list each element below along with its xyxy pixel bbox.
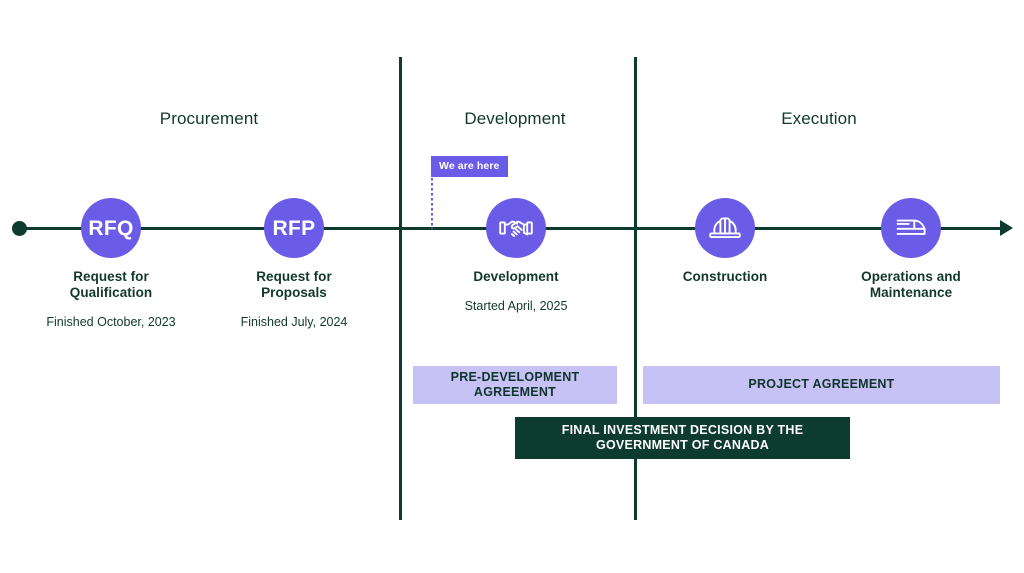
milestone-rfq-status: Finished October, 2023 xyxy=(21,315,201,330)
hard-hat-icon xyxy=(707,210,743,246)
timeline-arrow-icon xyxy=(1000,220,1013,236)
phase-header-development: Development xyxy=(425,109,605,129)
timeline-infographic: Procurement Development Execution We are… xyxy=(0,0,1024,573)
milestone-construction[interactable]: Construction xyxy=(635,198,815,285)
milestone-rfq[interactable]: RFQ Request for Qualification Finished O… xyxy=(21,198,201,330)
milestone-rfq-label-line1: Request for xyxy=(21,269,201,285)
bar-pre-development-agreement: PRE-DEVELOPMENT AGREEMENT xyxy=(413,366,617,404)
milestone-operations-label: Operations and Maintenance xyxy=(821,269,1001,301)
milestone-construction-circle xyxy=(695,198,755,258)
handshake-icon xyxy=(498,210,534,246)
milestone-rfp-label-line1: Request for xyxy=(204,269,384,285)
bar-project-agreement-line1: PROJECT AGREEMENT xyxy=(748,377,894,392)
milestone-rfp-circle: RFP xyxy=(264,198,324,258)
milestone-development-status: Started April, 2025 xyxy=(426,299,606,314)
bar-project-agreement: PROJECT AGREEMENT xyxy=(643,366,1000,404)
milestone-development-circle xyxy=(486,198,546,258)
milestone-rfp-label: Request for Proposals xyxy=(204,269,384,301)
milestone-rfq-label: Request for Qualification xyxy=(21,269,201,301)
milestone-operations-label-line1: Operations and xyxy=(821,269,1001,285)
milestone-operations-maintenance[interactable]: Operations and Maintenance xyxy=(821,198,1001,301)
milestone-operations-label-line2: Maintenance xyxy=(821,285,1001,301)
bar-pre-development-line2: AGREEMENT xyxy=(451,385,580,400)
milestone-rfp[interactable]: RFP Request for Proposals Finished July,… xyxy=(204,198,384,330)
milestone-rfq-circle: RFQ xyxy=(81,198,141,258)
milestone-construction-label-line1: Construction xyxy=(635,269,815,285)
train-icon xyxy=(893,210,929,246)
milestone-rfp-label-line2: Proposals xyxy=(204,285,384,301)
milestone-rfq-label-line2: Qualification xyxy=(21,285,201,301)
phase-header-procurement: Procurement xyxy=(119,109,299,129)
rfq-abbreviation-label: RFQ xyxy=(88,218,133,239)
bar-pre-development-line1: PRE-DEVELOPMENT xyxy=(451,370,580,385)
bar-final-investment-decision: FINAL INVESTMENT DECISION BY THE GOVERNM… xyxy=(515,417,850,459)
milestone-development-label: Development xyxy=(426,269,606,285)
bar-fid-line1: FINAL INVESTMENT DECISION BY THE xyxy=(562,423,804,438)
rfp-abbreviation-label: RFP xyxy=(273,218,316,239)
milestone-development[interactable]: Development Started April, 2025 xyxy=(426,198,606,314)
we-are-here-badge: We are here xyxy=(431,156,508,177)
milestone-construction-label: Construction xyxy=(635,269,815,285)
milestone-rfp-status: Finished July, 2024 xyxy=(204,315,384,330)
phase-divider-procurement-development xyxy=(399,57,402,520)
milestone-operations-circle xyxy=(881,198,941,258)
bar-fid-line2: GOVERNMENT OF CANADA xyxy=(562,438,804,453)
milestone-development-label-line1: Development xyxy=(426,269,606,285)
phase-header-execution: Execution xyxy=(729,109,909,129)
